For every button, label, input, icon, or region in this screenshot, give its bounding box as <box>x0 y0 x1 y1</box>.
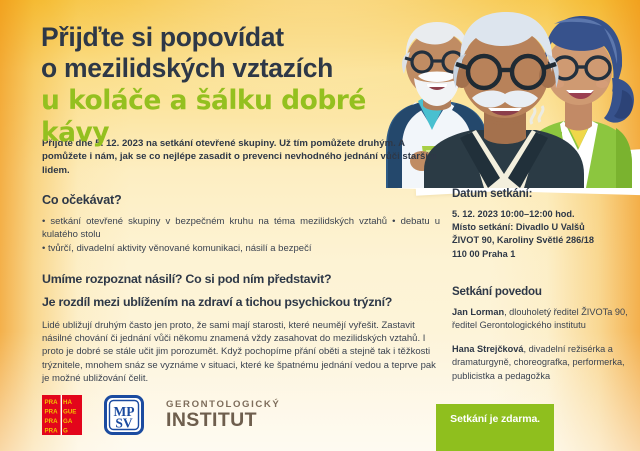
expectation-bullets: • setkání otevřené skupiny v bezpečném k… <box>42 215 440 255</box>
svg-text:PRA: PRA <box>45 399 59 406</box>
meeting-datetime: 5. 12. 2023 10:00–12:00 hod. <box>452 208 636 221</box>
heading-violence-line-1: Umíme rozpoznat násilí? Co si pod ním př… <box>42 272 440 287</box>
mpsv-logo: MP SV <box>104 395 144 435</box>
heading-speakers: Setkání povedou <box>452 285 636 298</box>
heading-what-to-expect: Co očekávat? <box>42 192 440 208</box>
svg-text:GUE: GUE <box>63 409 76 416</box>
gi-logo-bottom-line: INSTITUT <box>166 411 280 431</box>
svg-text:PRA: PRA <box>45 428 59 435</box>
gerontologicky-institut-logo: GERONTOLOGICKÝ INSTITUT <box>166 400 280 430</box>
svg-text:PRA: PRA <box>45 418 59 425</box>
speaker-name: Jan Lorman <box>452 307 504 317</box>
headline-block: Přijďte si popovídat o mezilidských vzta… <box>41 22 441 149</box>
poster-canvas: Přijďte si popovídat o mezilidských vzta… <box>0 0 640 451</box>
heading-violence-line-2: Je rozdíl mezi ublížením na zdraví a tic… <box>42 295 440 310</box>
free-admission-badge: Setkání je zdarma. <box>436 404 554 451</box>
right-info-column: Datum setkání: 5. 12. 2023 10:00–12:00 h… <box>452 187 636 394</box>
meeting-address: ŽIVOT 90, Karoliny Světlé 286/18 <box>452 234 636 247</box>
bullet-item: • tvůrčí, divadelní aktivity věnované ko… <box>42 242 440 255</box>
left-content-column: Přijďte dne 5. 12. 2023 na setkání otevř… <box>42 137 440 386</box>
svg-text:SV: SV <box>115 416 133 431</box>
headline-line-1: Přijďte si popovídat <box>41 22 441 53</box>
headline-line-3-green: u koláče a šálku dobré kávy <box>41 85 441 149</box>
speaker-entry: Hana Strejčková, divadelní režisérka a d… <box>452 343 636 383</box>
speaker-name: Hana Strejčková <box>452 344 524 354</box>
heading-meeting-date: Datum setkání: <box>452 187 636 200</box>
svg-text:PRA: PRA <box>45 409 59 416</box>
body-paragraph: Lidé ubližují druhým často jen proto, že… <box>42 319 440 386</box>
svg-text:G: G <box>63 428 68 435</box>
meeting-postcode: 110 00 Praha 1 <box>452 248 636 261</box>
praha-logo: PRAHA PRAGUE PRAGA PRAG <box>42 395 82 435</box>
meeting-details: 5. 12. 2023 10:00–12:00 hod. Místo setká… <box>452 208 636 261</box>
bullet-item: • setkání otevřené skupiny v bezpečném k… <box>42 215 440 241</box>
meeting-venue: Místo setkání: Divadlo U Valšů <box>452 221 636 234</box>
svg-text:HA: HA <box>63 399 72 406</box>
speaker-entry: Jan Lorman, dlouholetý ředitel ŽIVOTa 90… <box>452 306 636 332</box>
svg-text:GA: GA <box>63 418 73 425</box>
headline-line-2: o mezilidských vztazích <box>41 53 441 84</box>
heading-violence: Umíme rozpoznat násilí? Co si pod ním př… <box>42 272 440 311</box>
logo-row: PRAHA PRAGUE PRAGA PRAG MP SV GERONTOLOG… <box>42 393 280 437</box>
